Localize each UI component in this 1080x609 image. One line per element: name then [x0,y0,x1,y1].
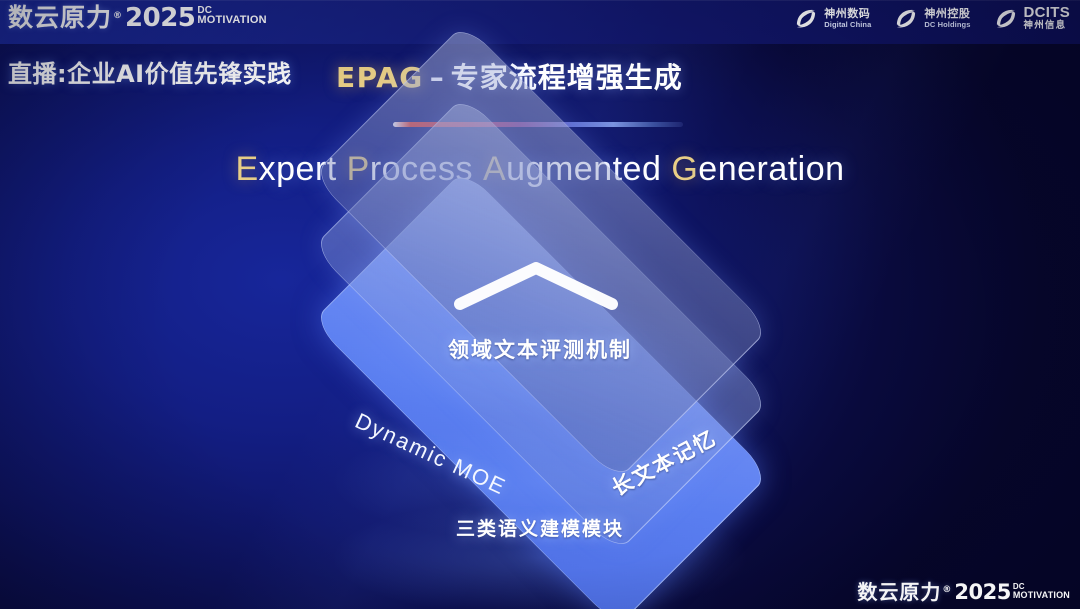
logo-dcits-text: DCITS 神州信息 [1024,5,1071,31]
subtitle-cap-e: E [235,150,258,188]
logo-digital-china-text: 神州数码 Digital China [824,8,871,29]
subtitle-rest-generation: eneration [698,150,844,188]
swirl-logo-icon [993,5,1019,31]
logo-label-cn: 神州数码 [824,8,871,20]
bottom-watermark-logo: 数云原力® 2025 DC MOTIVATION [857,582,1070,603]
watermark-motivation-text: MOTIVATION [1013,591,1070,600]
top-banner: 数云原力® 2025 DC MOTIVATION 神州数码 Digital Ch… [0,0,1080,44]
logo-label-cn: 神州控股 [924,8,970,20]
registered-mark: ® [113,11,123,21]
watermark-registered-mark: ® [942,585,952,595]
brand-dc-motivation: DC MOTIVATION [197,5,266,26]
brand-motivation-text: MOTIVATION [197,15,266,26]
logo-label-cn: 神州信息 [1024,20,1071,31]
logo-dc-holdings-text: 神州控股 DC Holdings [924,8,970,29]
brand-logo: 数云原力® 2025 DC MOTIVATION [8,5,267,31]
diagram-layer-bottom-label: 三类语义建模模块 [280,514,800,541]
logo-dc-holdings: 神州控股 DC Holdings [893,5,970,31]
partner-logos: 神州数码 Digital China 神州控股 DC Holdings [793,5,1070,31]
logo-label-en: DC Holdings [924,20,970,29]
watermark-dc-motivation: DC MOTIVATION [1013,582,1070,600]
subtitle-cap-g: G [671,150,698,188]
brand-year: 2025 [125,5,195,31]
swirl-logo-icon [793,5,819,31]
logo-label-en: Digital China [824,20,871,29]
layered-architecture-diagram: 领域文本评测机制 Dynamic MOE 长文本记忆 三类语义建模模块 [280,226,800,568]
watermark-brand-year: 2025 [954,582,1010,603]
logo-digital-china: 神州数码 Digital China [793,5,871,31]
watermark-brand-cn: 数云原力® [857,582,952,602]
diagram-layer-top-label: 领域文本评测机制 [280,334,800,364]
presentation-slide: 数云原力® 2025 DC MOTIVATION 神州数码 Digital Ch… [0,0,1080,609]
live-stream-label: 直播:企业AI价值先锋实践 [8,54,292,89]
logo-dcits: DCITS 神州信息 [993,5,1071,31]
logo-label-en: DCITS [1024,5,1071,20]
swirl-logo-icon [893,5,919,31]
chevron-up-icon [450,258,622,314]
brand-name-cn: 数云原力® [8,5,123,30]
